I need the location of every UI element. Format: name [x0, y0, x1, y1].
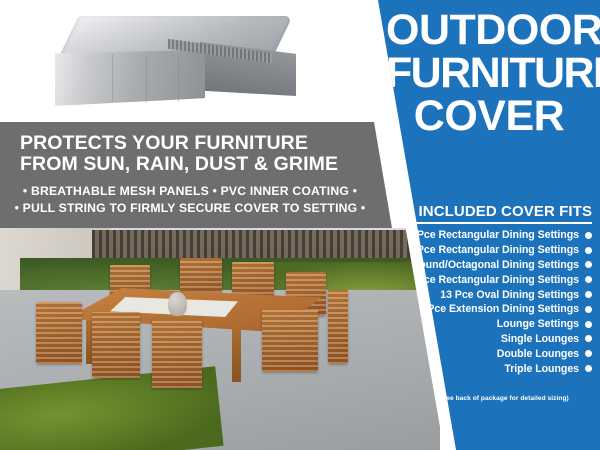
product-package-artwork: PROTECTS YOUR FURNITURE FROM SUN, RAIN, …	[0, 0, 600, 450]
feature-bullets-line2: • PULL STRING TO FIRMLY SECURE COVER TO …	[14, 200, 366, 217]
fits-item-label: 9 Pce Rectangular Dining Settings	[408, 244, 579, 256]
product-cover-photo	[0, 0, 400, 122]
bullet-dot-icon	[585, 261, 592, 268]
fits-item-label: 7 Pce Rectangular Dining Settings	[408, 229, 579, 241]
bullet-dot-icon	[585, 247, 592, 254]
claim-banner: PROTECTS YOUR FURNITURE FROM SUN, RAIN, …	[0, 122, 392, 228]
bullet-dot-icon	[585, 276, 592, 283]
product-title: OUTDOOR FURNITURE COVER	[386, 10, 592, 136]
bullet-dot-icon	[585, 306, 592, 313]
chair-front-1	[36, 302, 82, 364]
bullet-dot-icon	[585, 365, 592, 372]
furniture-cover-illustration	[50, 14, 300, 114]
title-line-cover: COVER	[386, 96, 592, 136]
fits-item-label: 13 Pce Oval Dining Settings	[440, 289, 579, 301]
bullet-dot-icon	[585, 291, 592, 298]
title-line-furniture: FURNITURE	[386, 53, 592, 93]
feature-bullets: • BREATHABLE MESH PANELS • PVC INNER COA…	[14, 183, 366, 217]
fits-item-label: Double Lounges	[497, 348, 579, 360]
feature-bullets-line1: • BREATHABLE MESH PANELS • PVC INNER COA…	[14, 183, 366, 200]
cover-crease	[112, 54, 113, 102]
chair-far-right	[328, 290, 348, 364]
chair-armchair-right	[262, 310, 318, 372]
cover-crease	[146, 56, 147, 102]
cover-front-panel	[55, 50, 205, 106]
fits-item-label: Triple Lounges	[504, 363, 579, 375]
bullet-dot-icon	[585, 350, 592, 357]
bullet-dot-icon	[585, 335, 592, 342]
bullet-dot-icon	[585, 232, 592, 239]
cover-crease	[178, 56, 179, 102]
claim-headline-line2: FROM SUN, RAIN, DUST & GRIME	[20, 154, 360, 175]
fits-item-label: 13 Pce Extension Dining Settings	[413, 303, 579, 315]
fits-item-label: Single Lounges	[501, 333, 579, 345]
fits-item-label: Lounge Settings	[497, 318, 579, 330]
table-vase	[168, 292, 187, 316]
table-leg-right	[232, 322, 241, 382]
chair-front-2	[92, 312, 140, 378]
title-line-outdoor: OUTDOOR	[386, 10, 592, 50]
bullet-dot-icon	[585, 321, 592, 328]
claim-headline: PROTECTS YOUR FURNITURE FROM SUN, RAIN, …	[20, 133, 360, 175]
fits-item-label: 11 Pce Rectangular Dining Settings	[403, 274, 579, 286]
claim-headline-line1: PROTECTS YOUR FURNITURE	[20, 133, 360, 154]
chair-front-3	[152, 318, 202, 388]
